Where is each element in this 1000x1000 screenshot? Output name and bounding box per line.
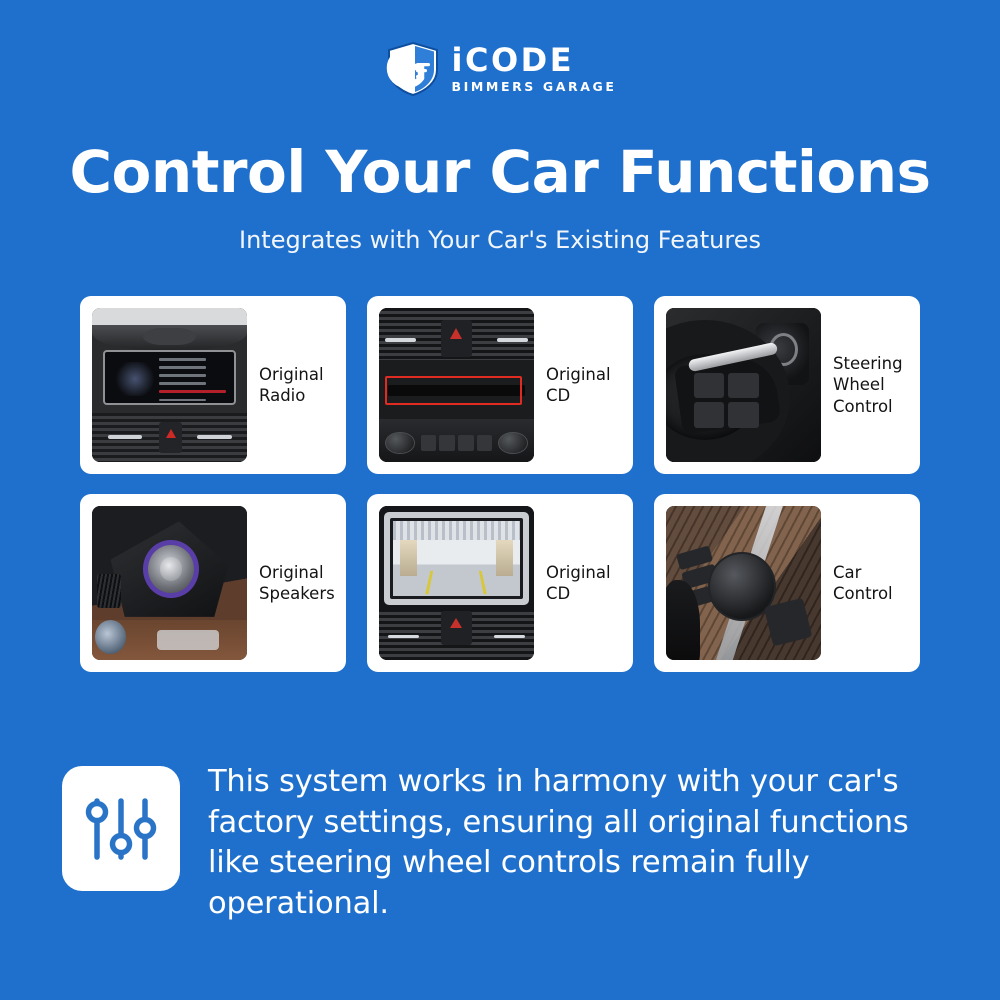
feature-card-original-cd[interactable]: Original CD (367, 296, 633, 474)
red-highlight-box (385, 376, 521, 405)
header-logo-bar: iCODE BIMMERS GARAGE (0, 0, 1000, 110)
card-label: Original Radio (257, 364, 334, 406)
page-subtitle: Integrates with Your Car's Existing Feat… (0, 226, 1000, 254)
card-label-line: Control (833, 396, 908, 417)
cd-slot-center-console-photo (379, 308, 534, 462)
feature-card-steering-wheel-control[interactable]: Steering Wheel Control (654, 296, 920, 474)
feature-card-original-cd-2[interactable]: Original CD (367, 494, 633, 672)
feature-card-grid: Original Radio Original CD (80, 296, 920, 672)
card-label-line: Original (259, 364, 334, 385)
card-label-line: Steering (833, 353, 908, 374)
card-label-line: CD (546, 583, 621, 604)
icode-shield-logo-icon (383, 41, 441, 97)
feature-card-original-radio[interactable]: Original Radio (80, 296, 346, 474)
card-label: Original CD (544, 364, 621, 406)
card-label-line: Original (546, 562, 621, 583)
card-label-line: Radio (259, 385, 334, 406)
idrive-controller-knob-photo (666, 506, 821, 660)
card-label-line: Original (259, 562, 335, 583)
feature-card-car-control[interactable]: Car Control (654, 494, 920, 672)
reverse-camera-display-photo (379, 506, 534, 660)
card-label-line: CD (546, 385, 621, 406)
footer-description: This system works in harmony with your c… (208, 760, 942, 924)
feature-card-original-speakers[interactable]: Original Speakers (80, 494, 346, 672)
brand-tagline: BIMMERS GARAGE (451, 81, 616, 94)
brand-logo[interactable]: iCODE BIMMERS GARAGE (383, 41, 616, 97)
card-label-line: Speakers (259, 583, 335, 604)
card-label: Steering Wheel Control (831, 353, 908, 416)
card-label-line: Car (833, 562, 908, 583)
tweeter-speaker-photo (92, 506, 247, 660)
brand-name: iCODE (451, 44, 616, 76)
card-label: Original Speakers (257, 562, 335, 604)
steering-wheel-buttons-photo (666, 308, 821, 462)
card-label-line: Control (833, 583, 908, 604)
dashboard-radio-screen-photo (92, 308, 247, 462)
card-label-line: Wheel (833, 374, 908, 395)
brand-logo-text: iCODE BIMMERS GARAGE (451, 44, 616, 94)
sliders-equalizer-icon (62, 766, 180, 891)
card-label: Original CD (544, 562, 621, 604)
footer-callout: This system works in harmony with your c… (62, 760, 942, 924)
card-label: Car Control (831, 562, 908, 604)
page-title: Control Your Car Functions (0, 138, 1000, 206)
card-label-line: Original (546, 364, 621, 385)
